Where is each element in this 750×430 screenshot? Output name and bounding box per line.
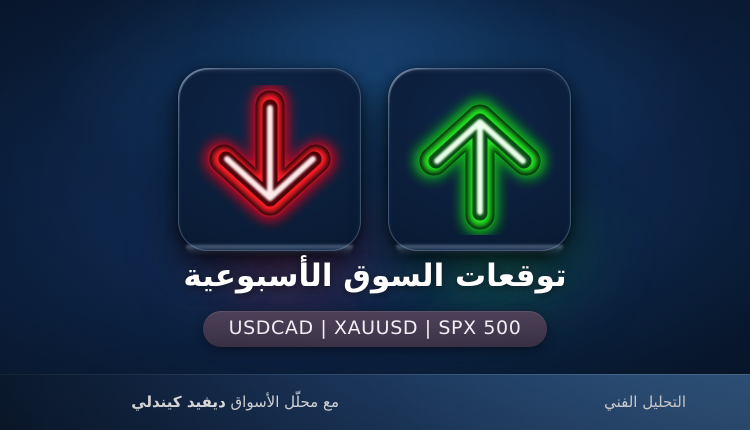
market-forecast-poster: توقعات السوق الأسبوعية USDCAD | XAUUSD |… [0, 0, 750, 430]
up-arrow-icon [405, 85, 555, 235]
presenter-name: ديفيد كيندلي [131, 393, 226, 411]
bearish-arrow-card[interactable] [178, 68, 361, 251]
symbols-badge: USDCAD | XAUUSD | SPX 500 [203, 311, 548, 347]
page-title: توقعات السوق الأسبوعية [0, 256, 750, 296]
down-arrow-container [178, 68, 361, 251]
footer-bar: مع محلّل الأسواق ديفيد كيندلي التحليل ال… [0, 374, 750, 430]
symbols-row: USDCAD | XAUUSD | SPX 500 [0, 311, 750, 347]
vignette-overlay [0, 0, 750, 430]
presenter-credit: مع محلّل الأسواق ديفيد كيندلي [131, 392, 375, 412]
bullish-arrow-card[interactable] [388, 68, 571, 251]
presenter-lead-label: مع محلّل الأسواق [231, 393, 339, 411]
section-label: التحليل الفني [604, 392, 750, 412]
up-arrow-container [388, 68, 571, 251]
down-arrow-icon [195, 85, 345, 235]
